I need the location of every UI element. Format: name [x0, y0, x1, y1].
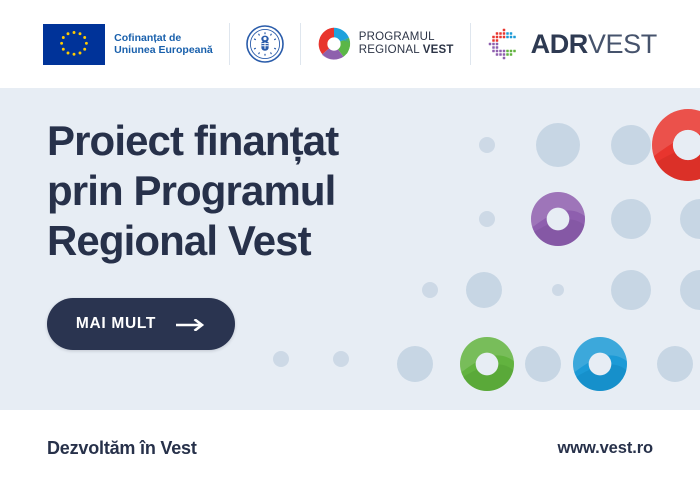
- decorative-dot: [333, 351, 349, 367]
- adr-vest-dot-circle-icon: [487, 27, 521, 61]
- decorative-dot: [525, 346, 561, 382]
- decorative-dot: [611, 199, 651, 239]
- romanian-government-logo: [230, 21, 300, 67]
- decorative-ring-green: [460, 337, 514, 391]
- logo-bar: Cofinanțat de Uniunea Europeană: [0, 0, 700, 88]
- decorative-dot: [479, 137, 495, 153]
- decorative-dot: [611, 125, 651, 165]
- prv-text-line1: PROGRAMUL: [359, 31, 454, 44]
- headline-line-1: Proiect finanțat: [47, 116, 477, 166]
- prv-text-regional: REGIONAL: [359, 44, 423, 56]
- decorative-dot: [466, 272, 502, 308]
- decorative-dot: [422, 282, 438, 298]
- decorative-ring-blue: [573, 337, 627, 391]
- arrow-right-icon: [176, 318, 206, 330]
- mai-mult-button-label: MAI MULT: [76, 315, 156, 333]
- romanian-government-seal-icon: [246, 25, 284, 63]
- adr-vest-logo: ADRVEST: [471, 21, 673, 67]
- eu-logo-text-line2: Uniunea Europeană: [114, 44, 213, 57]
- decorative-dot: [536, 123, 580, 167]
- eu-flag-icon: [43, 24, 105, 65]
- adr-vest-text-bold: ADR: [531, 29, 588, 59]
- decorative-dot: [479, 211, 495, 227]
- page-title: Proiect finanțat prin Programul Regional…: [47, 116, 477, 266]
- adr-vest-text: ADRVEST: [531, 31, 657, 58]
- decorative-dot: [657, 346, 693, 382]
- hero-section: Proiect finanțat prin Programul Regional…: [0, 88, 700, 410]
- decorative-dot: [397, 346, 433, 382]
- adr-vest-text-light: VEST: [588, 29, 657, 59]
- headline-line-3: Regional Vest: [47, 216, 477, 266]
- decorative-dot: [611, 270, 651, 310]
- decorative-dot: [552, 284, 564, 296]
- eu-logo-text-line1: Cofinanțat de: [114, 32, 213, 45]
- programul-regional-vest-text: PROGRAMUL REGIONAL VEST: [359, 31, 454, 57]
- decorative-ring-red: [652, 109, 700, 181]
- programul-regional-vest-logo: PROGRAMUL REGIONAL VEST: [301, 21, 470, 67]
- eu-logo-text: Cofinanțat de Uniunea Europeană: [114, 32, 213, 57]
- footer: Dezvoltăm în Vest www.vest.ro: [0, 410, 700, 490]
- logo-group: Cofinanțat de Uniunea Europeană: [27, 21, 673, 67]
- decorative-ring-purple: [531, 192, 585, 246]
- programul-regional-vest-pinwheel-icon: [317, 27, 351, 61]
- decorative-dot: [273, 351, 289, 367]
- headline-line-2: prin Programul: [47, 166, 477, 216]
- prv-text-vest: VEST: [423, 44, 454, 56]
- decorative-dot: [680, 199, 700, 239]
- prv-text-line2: REGIONAL VEST: [359, 44, 454, 57]
- project-funding-banner: Cofinanțat de Uniunea Europeană: [0, 0, 700, 490]
- mai-mult-button[interactable]: MAI MULT: [47, 298, 235, 350]
- footer-website-link[interactable]: www.vest.ro: [558, 439, 653, 458]
- footer-slogan: Dezvoltăm în Vest: [47, 438, 197, 459]
- decorative-dot: [680, 270, 700, 310]
- eu-cofinancing-logo: Cofinanțat de Uniunea Europeană: [27, 21, 229, 67]
